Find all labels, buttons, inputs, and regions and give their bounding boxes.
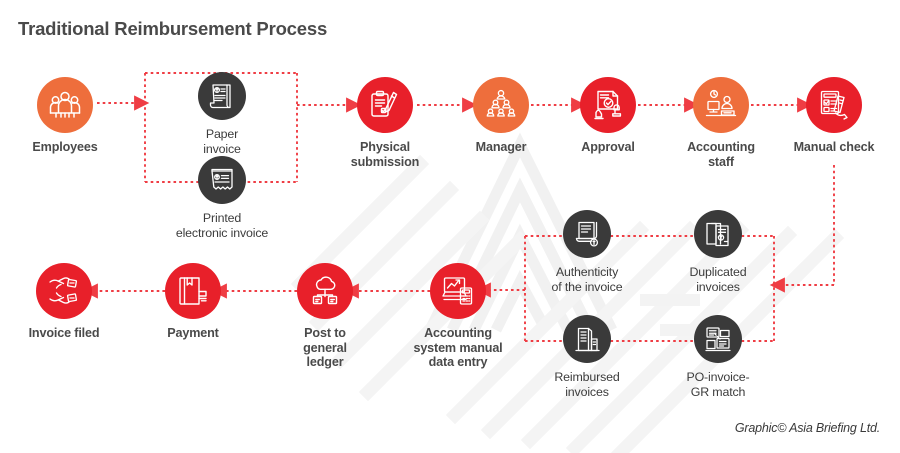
node-label: Paper invoice [162, 127, 282, 156]
node-label: Authenticity of the invoice [527, 265, 647, 294]
people-group-icon [37, 77, 93, 133]
node-label: Employees [5, 140, 125, 155]
node-label: Accounting staff [661, 140, 781, 169]
computer-calculator-icon [430, 263, 486, 319]
node-label: Printed electronic invoice [162, 211, 282, 240]
node-reimbursed-invoices[interactable]: Reimbursed invoices [527, 315, 647, 399]
node-label: Reimbursed invoices [527, 370, 647, 399]
node-printed-electronic-invoice[interactable]: Printed electronic invoice [162, 156, 282, 240]
node-accounting-system-manual-data-entry[interactable]: Accounting system manual data entry [398, 263, 518, 370]
node-authenticity-of-the-invoice[interactable]: Authenticity of the invoice [527, 210, 647, 294]
node-label: Manager [441, 140, 561, 155]
accountant-desk-icon [693, 77, 749, 133]
handshake-money-icon [36, 263, 92, 319]
graphic-credit: Graphic© Asia Briefing Ltd. [735, 421, 880, 435]
node-label: Duplicated invoices [658, 265, 778, 294]
node-label: Approval [548, 140, 668, 155]
invoice-scroll-icon [563, 210, 611, 258]
clipboard-pen-icon [357, 77, 413, 133]
cloud-network-icon [297, 263, 353, 319]
node-label: Physical submission [325, 140, 445, 169]
node-label: PO-invoice- GR match [658, 370, 778, 399]
page-title: Traditional Reimbursement Process [18, 18, 327, 40]
duplicate-docs-icon [694, 210, 742, 258]
manual-check-icon [806, 77, 862, 133]
node-manager[interactable]: Manager [441, 77, 561, 155]
node-duplicated-invoices[interactable]: Duplicated invoices [658, 210, 778, 294]
node-payment[interactable]: Payment [133, 263, 253, 341]
node-invoice-filed[interactable]: Invoice filed [4, 263, 124, 341]
node-accounting-staff[interactable]: Accounting staff [661, 77, 781, 169]
node-physical-submission[interactable]: Physical submission [325, 77, 445, 169]
ledger-book-icon [165, 263, 221, 319]
org-chart-icon [473, 77, 529, 133]
receipt-icon [198, 156, 246, 204]
approved-stamp-icon [580, 77, 636, 133]
node-label: Post to general ledger [265, 326, 385, 370]
node-label: Payment [133, 326, 253, 341]
node-po-invoice-gr-match[interactable]: PO-invoice- GR match [658, 315, 778, 399]
building-invoice-icon [563, 315, 611, 363]
node-label: Accounting system manual data entry [398, 326, 518, 370]
node-approval[interactable]: Approval [548, 77, 668, 155]
node-label: Invoice filed [4, 326, 124, 341]
po-match-icon [694, 315, 742, 363]
infographic-canvas: Traditional Reimbursement Process Employ… [0, 0, 900, 453]
node-post-to-general-ledger[interactable]: Post to general ledger [265, 263, 385, 370]
node-manual-check[interactable]: Manual check [774, 77, 894, 155]
node-label: Manual check [774, 140, 894, 155]
node-paper-invoice[interactable]: Paper invoice [162, 72, 282, 156]
paper-invoice-icon [198, 72, 246, 120]
node-employees[interactable]: Employees [5, 77, 125, 155]
